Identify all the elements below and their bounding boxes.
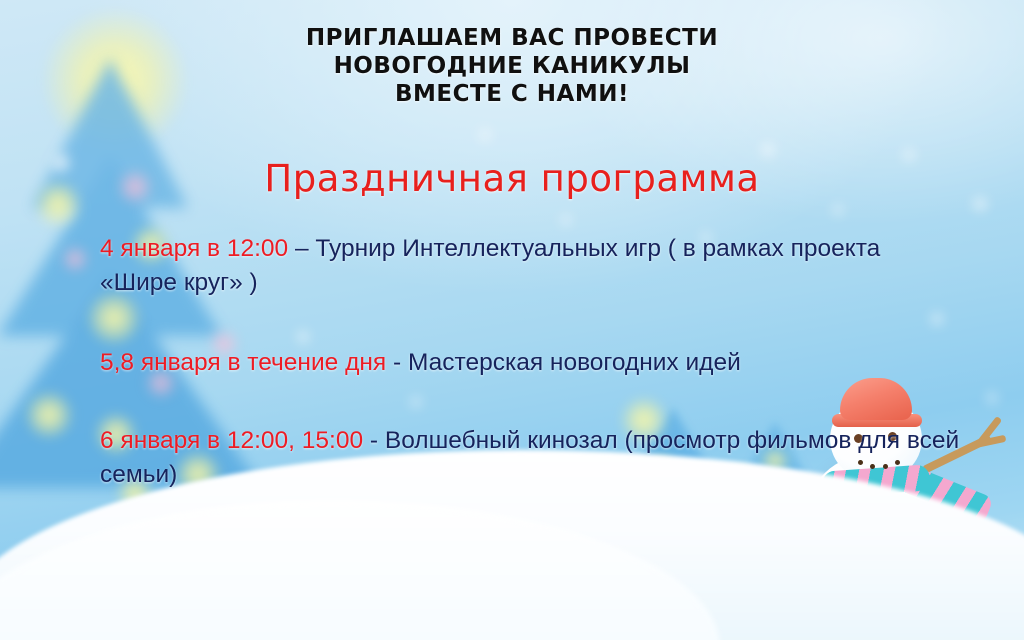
- event-description: - Мастерская новогодних идей: [386, 349, 741, 376]
- program-event-item: 5,8 января в течение дня - Мастерская но…: [100, 346, 960, 380]
- twig-arm-icon: [976, 416, 1002, 447]
- shovel-blade: [945, 557, 1002, 609]
- poster-headline: ПРИГЛАШАЕМ ВАС ПРОВЕСТИ НОВОГОДНИЕ КАНИК…: [0, 24, 1024, 108]
- program-event-item: 4 января в 12:00 – Турнир Интеллектуальн…: [100, 232, 960, 300]
- event-datetime: 6 января в 12:00, 15:00: [100, 427, 363, 454]
- snowflake-icon: [760, 142, 776, 158]
- shovel-handle-icon: [971, 525, 1002, 576]
- snowflake-icon: [478, 128, 492, 142]
- bokeh-light-icon: [340, 492, 380, 532]
- scarf-tail: [833, 485, 873, 584]
- bokeh-light-icon: [26, 392, 72, 438]
- headline-line-2: НОВОГОДНИЕ КАНИКУЛЫ: [0, 52, 1024, 80]
- twig-arm-icon: [974, 435, 1007, 449]
- bokeh-light-icon: [62, 246, 88, 272]
- headline-line-1: ПРИГЛАШАЕМ ВАС ПРОВЕСТИ: [0, 24, 1024, 52]
- program-event-list: 4 января в 12:00 – Турнир Интеллектуальн…: [100, 232, 960, 492]
- bokeh-light-icon: [668, 506, 696, 534]
- snowflake-icon: [560, 214, 572, 226]
- program-event-item: 6 января в 12:00, 15:00 - Волшебный кино…: [100, 424, 960, 492]
- event-datetime: 5,8 января в течение дня: [100, 349, 386, 376]
- event-datetime: 4 января в 12:00: [100, 235, 288, 262]
- headline-line-3: ВМЕСТЕ С НАМИ!: [0, 80, 1024, 108]
- bokeh-light-icon: [606, 490, 640, 524]
- bokeh-light-icon: [244, 520, 274, 550]
- program-title: Праздничная программа: [0, 157, 1024, 201]
- winter-holiday-poster: ПРИГЛАШАЕМ ВАС ПРОВЕСТИ НОВОГОДНИЕ КАНИК…: [0, 0, 1024, 640]
- snowflake-icon: [986, 392, 998, 404]
- snowflake-icon: [832, 204, 844, 216]
